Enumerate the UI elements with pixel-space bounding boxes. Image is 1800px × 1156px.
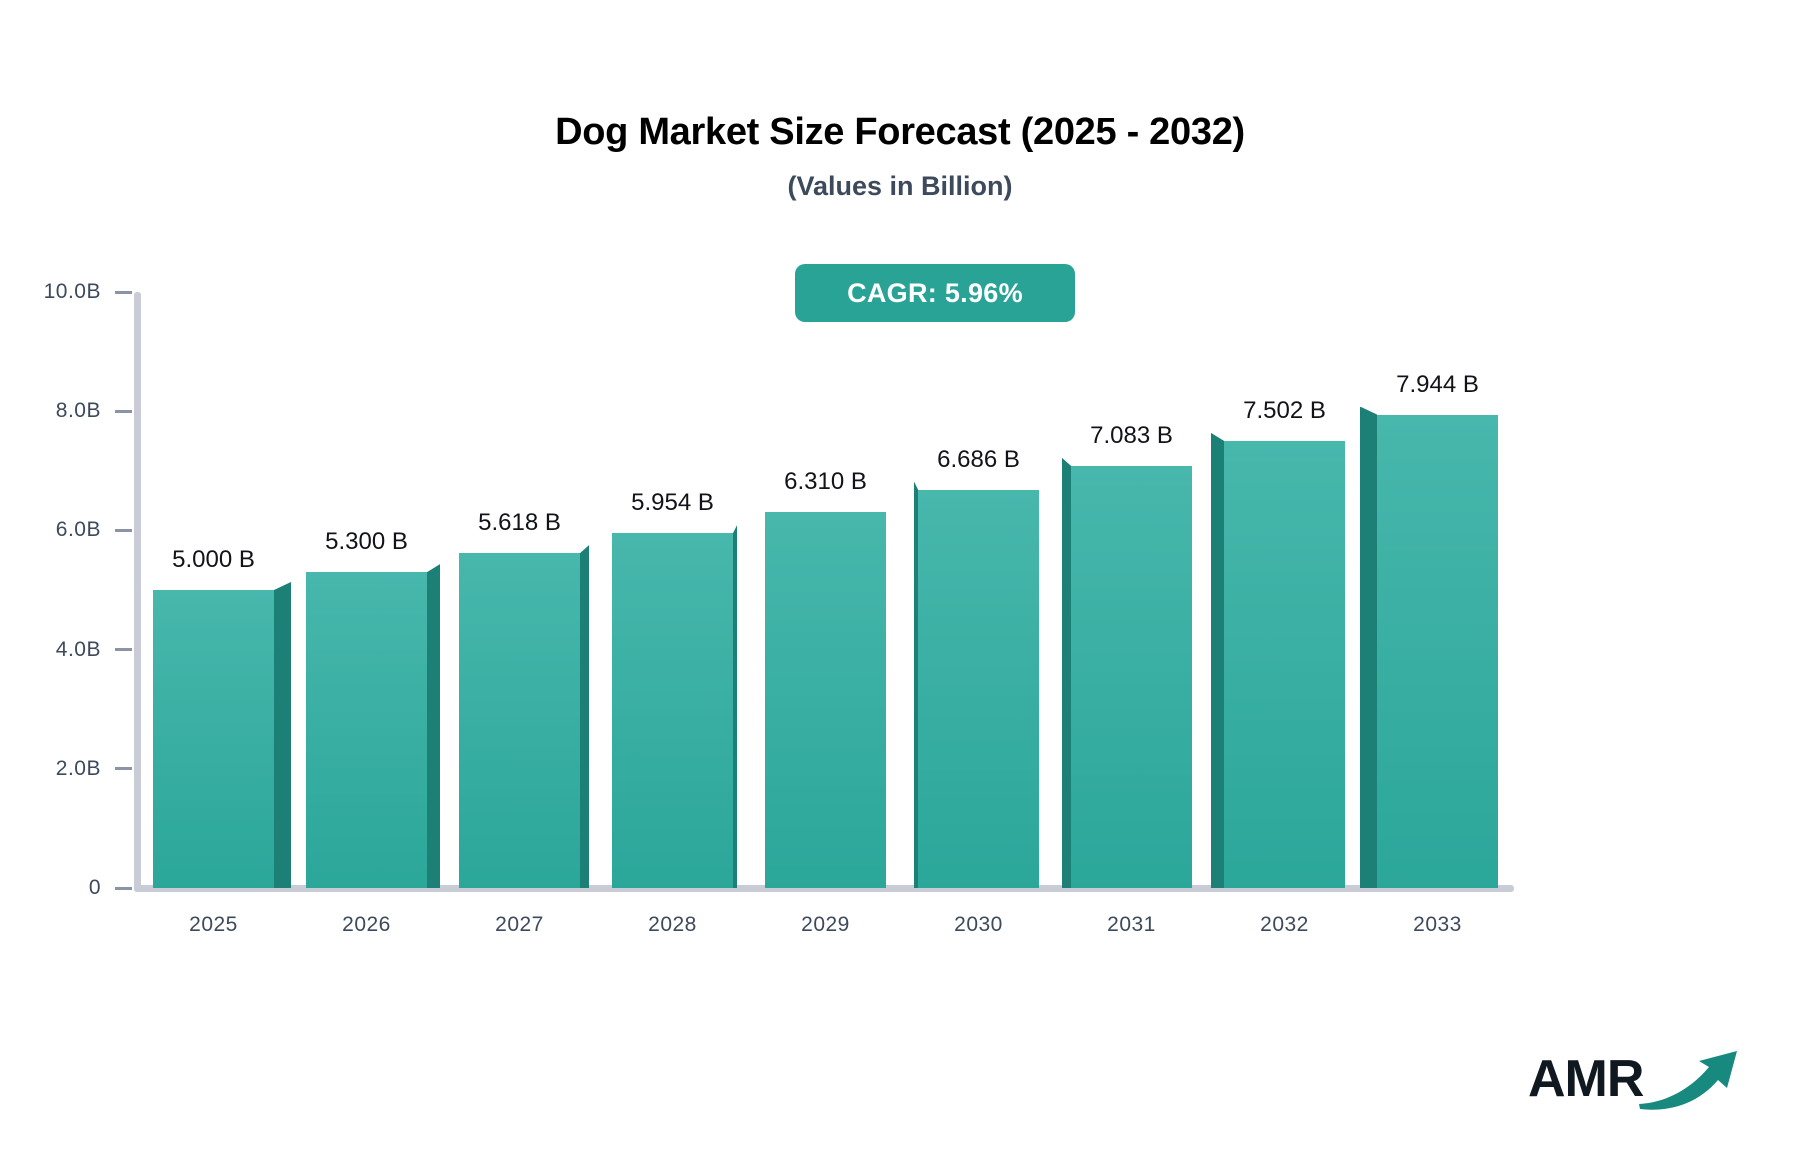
- chart-plot-area: 10.0B8.0B6.0B4.0B2.0B0 5.000 B20255.300 …: [0, 0, 1800, 1156]
- bar-group[interactable]: 5.000 B2025: [0, 0, 1800, 1156]
- bar-group[interactable]: 5.954 B2028: [0, 0, 1800, 1156]
- bar-side-face: [1360, 407, 1377, 888]
- growth-arrow-icon: [1637, 1047, 1741, 1116]
- bar-group[interactable]: 5.300 B2026: [0, 0, 1800, 1156]
- bar-side-face: [274, 582, 291, 888]
- bar-value-label: 6.310 B: [735, 468, 916, 496]
- bars-layer: 5.000 B20255.300 B20265.618 B20275.954 B…: [0, 0, 1800, 1156]
- x-axis-category-label: 2030: [888, 913, 1069, 937]
- x-axis-category-label: 2032: [1194, 913, 1375, 937]
- bar-front-face[interactable]: [459, 553, 580, 888]
- bar-front-face[interactable]: [612, 533, 733, 888]
- bar-front-face[interactable]: [1224, 441, 1345, 888]
- bar-side-face: [580, 545, 589, 888]
- bar-value-label: 7.502 B: [1194, 397, 1375, 425]
- bar-front-face[interactable]: [306, 572, 427, 888]
- bar-group[interactable]: 7.502 B2032: [0, 0, 1800, 1156]
- bar-group[interactable]: 6.686 B2030: [0, 0, 1800, 1156]
- x-axis-category-label: 2028: [582, 913, 763, 937]
- bar-value-label: 6.686 B: [888, 446, 1069, 474]
- x-axis-category-label: 2026: [276, 913, 457, 937]
- x-axis-category-label: 2033: [1347, 913, 1528, 937]
- bar-value-label: 5.300 B: [276, 528, 457, 556]
- bar-value-label: 7.944 B: [1347, 371, 1528, 399]
- x-axis-category-label: 2025: [123, 913, 304, 937]
- bar-value-label: 7.083 B: [1041, 422, 1222, 450]
- amr-logo: AMR: [1528, 1040, 1748, 1118]
- bar-front-face[interactable]: [153, 590, 274, 888]
- bar-front-face[interactable]: [1071, 466, 1192, 888]
- bar-side-face: [427, 564, 440, 888]
- bar-group[interactable]: 6.310 B2029: [0, 0, 1800, 1156]
- bar-side-face: [1211, 433, 1224, 888]
- x-axis-category-label: 2031: [1041, 913, 1222, 937]
- bar-side-face: [733, 525, 737, 888]
- bar-front-face[interactable]: [1377, 415, 1498, 888]
- bar-value-label: 5.618 B: [429, 509, 610, 537]
- bar-front-face[interactable]: [918, 490, 1039, 888]
- x-axis-category-label: 2029: [735, 913, 916, 937]
- bar-value-label: 5.000 B: [123, 546, 304, 574]
- bar-group[interactable]: 5.618 B2027: [0, 0, 1800, 1156]
- bar-value-label: 5.954 B: [582, 489, 763, 517]
- bar-side-face: [1062, 458, 1071, 888]
- bar-group[interactable]: 7.083 B2031: [0, 0, 1800, 1156]
- x-axis-category-label: 2027: [429, 913, 610, 937]
- bar-front-face[interactable]: [765, 512, 886, 888]
- amr-logo-text: AMR: [1528, 1053, 1643, 1105]
- bar-group[interactable]: 7.944 B2033: [0, 0, 1800, 1156]
